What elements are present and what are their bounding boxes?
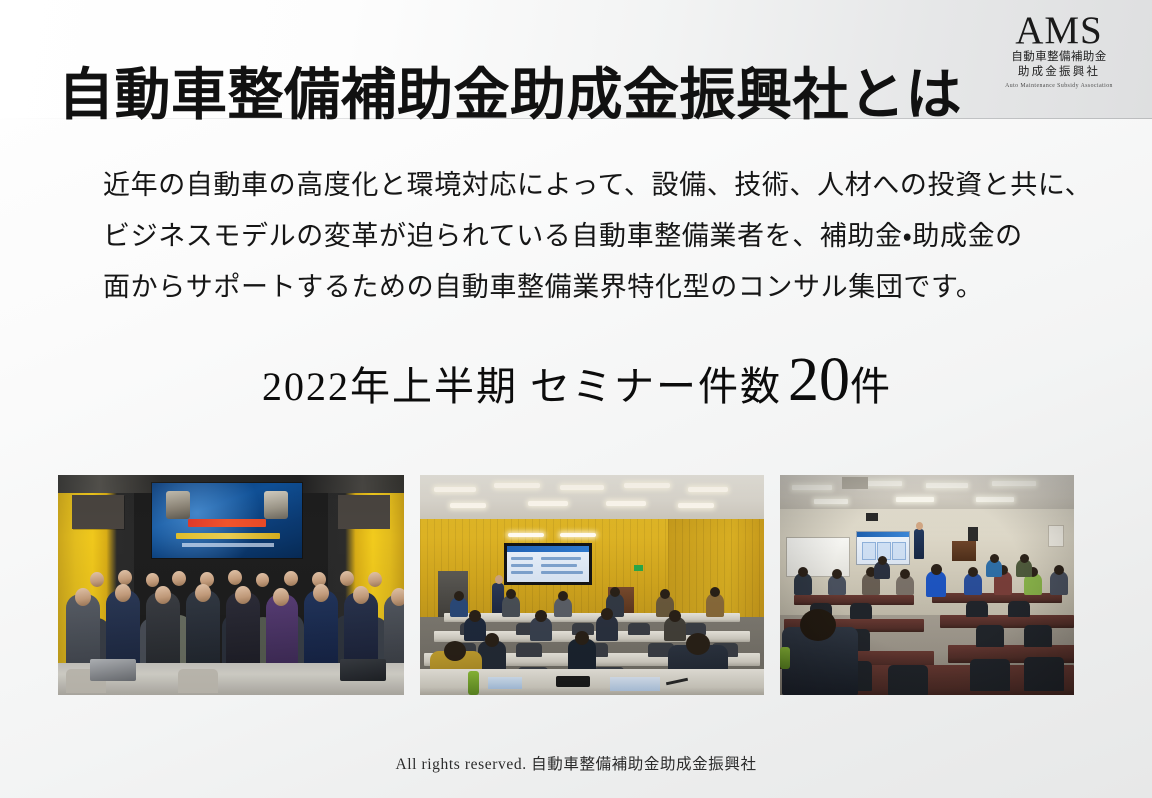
photo2-device — [556, 676, 590, 687]
seminar-group-photo — [58, 475, 404, 695]
stat-unit: 件 — [850, 364, 890, 409]
photo2-presenter-head — [495, 575, 503, 584]
stat-number: 20 — [788, 346, 850, 414]
photo2-projection-screen — [504, 543, 592, 585]
photo3-slide-header — [857, 532, 909, 537]
photo1-front-tables — [58, 663, 404, 695]
photo3-podium — [952, 541, 976, 561]
footer-copyright: All rights reserved. 自動車整備補助金助成金振興社 — [0, 752, 1152, 774]
seminar-room-photo — [780, 475, 1074, 695]
photo2-pendant-light-1 — [508, 533, 544, 537]
photo1-slide-portrait-right — [264, 491, 288, 519]
photo3-poster — [1048, 525, 1064, 547]
photo3-presenter-body — [914, 529, 924, 559]
photo3-ceiling — [780, 475, 1074, 511]
logo-jp-line1: 自動車整備補助金 — [999, 50, 1119, 65]
photo3-speaker-box — [968, 527, 978, 541]
photo3-bottle — [780, 647, 790, 669]
company-logo: AMS 自動車整備補助金 助成金振興社 Auto Maintenance Sub… — [999, 12, 1119, 89]
photo1-wall-panel-left — [72, 495, 124, 529]
body-copy: 近年の自動車の高度化と環境対応によって、設備、技術、人材への投資と共に、 ビジネ… — [103, 160, 1093, 313]
photo2-pendant-light-2 — [560, 533, 596, 537]
photo2-handout-2 — [610, 677, 660, 691]
photo1-slide-small-text — [182, 543, 274, 547]
photo1-presentation-screen — [152, 483, 302, 558]
stat-label: 2022年上半期 セミナー件数 — [262, 364, 782, 409]
page-title: 自動車整備補助金助成金振興社とは — [58, 66, 962, 128]
photo3-wall-sign — [866, 513, 878, 521]
photo2-ceiling — [420, 475, 764, 521]
photo2-bottle — [468, 671, 479, 695]
logo-mark-ams: AMS — [999, 12, 1119, 50]
photo1-attendees — [58, 570, 404, 672]
logo-jp-line2: 助成金振興社 — [999, 65, 1119, 80]
photo1-slide-title-text — [188, 519, 266, 527]
logo-en-subtitle: Auto Maintenance Subsidy Association — [999, 83, 1119, 89]
photo2-slide-header — [507, 546, 589, 552]
photo1-wall-panel-right — [338, 495, 390, 529]
photo3-presenter-head — [916, 522, 923, 530]
photo-strip — [58, 475, 1094, 695]
photo2-slide-content — [507, 546, 589, 582]
body-line-3: 面からサポートするための自動車整備業界特化型のコンサル集団です。 — [103, 262, 1093, 313]
slide-root: 自動車整備補助金助成金振興社とは AMS 自動車整備補助金 助成金振興社 Aut… — [0, 0, 1152, 798]
body-line-1: 近年の自動車の高度化と環境対応によって、設備、技術、人材への投資と共に、 — [103, 160, 1093, 211]
photo2-handout-1 — [488, 677, 522, 689]
photo2-exit-sign — [634, 565, 643, 571]
lecture-hall-photo — [420, 475, 764, 695]
photo3-ac-vent — [842, 477, 868, 489]
seminar-count-stat: 2022年上半期 セミナー件数20件 — [0, 345, 1152, 416]
photo1-slide-subtitle-text — [176, 533, 280, 539]
photo1-slide-portrait-left — [166, 491, 190, 519]
body-line-2: ビジネスモデルの変革が迫られている自動車整備業者を、補助金・助成金の — [103, 211, 1093, 262]
